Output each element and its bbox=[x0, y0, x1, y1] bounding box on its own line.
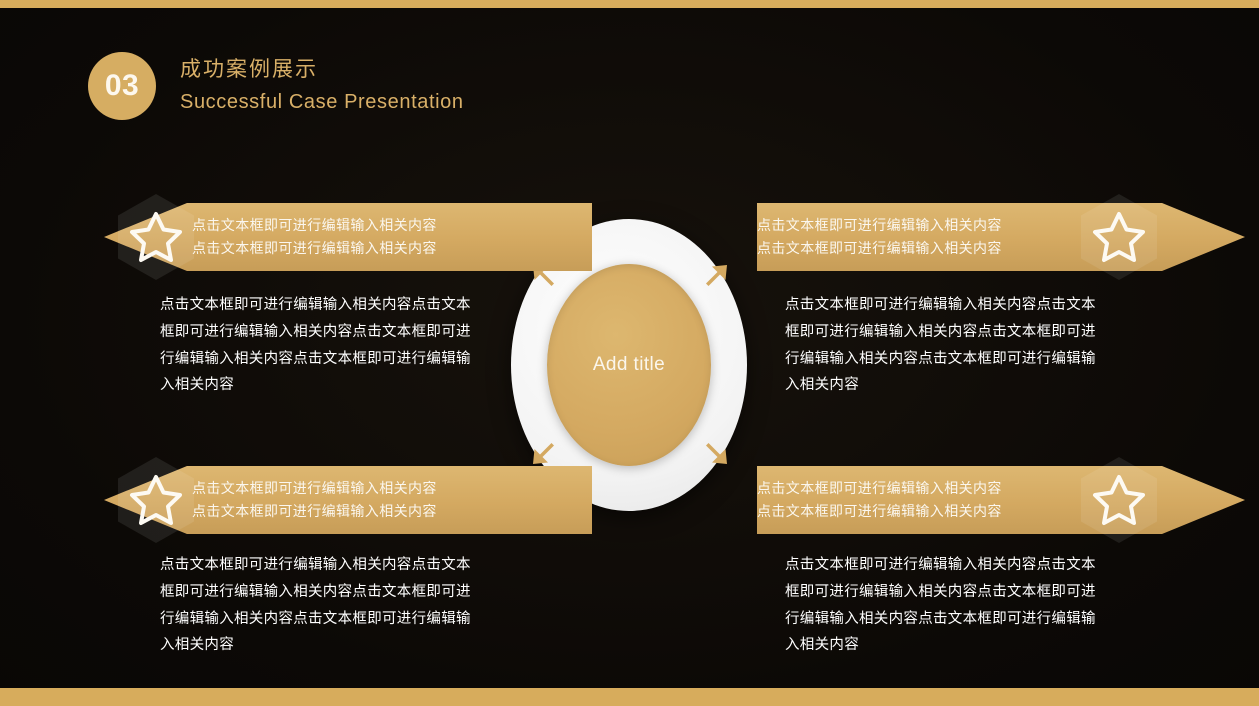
center-inner-circle[interactable]: Add title bbox=[547, 264, 711, 466]
banner-bottom-right[interactable]: 点击文本框即可进行编辑输入相关内容 点击文本框即可进行编辑输入相关内容 bbox=[757, 466, 1245, 534]
banner-line-2: 点击文本框即可进行编辑输入相关内容 bbox=[757, 237, 1002, 260]
banner-line-2: 点击文本框即可进行编辑输入相关内容 bbox=[192, 500, 437, 523]
paragraph-top-left[interactable]: 点击文本框即可进行编辑输入相关内容点击文本框即可进行编辑输入相关内容点击文本框即… bbox=[160, 292, 480, 399]
bottom-gold-strip bbox=[0, 688, 1259, 706]
slide-canvas: 03 成功案例展示 Successful Case Presentation bbox=[0, 0, 1259, 706]
banner-top-left[interactable]: 点击文本框即可进行编辑输入相关内容 点击文本框即可进行编辑输入相关内容 bbox=[104, 203, 592, 271]
header-titles: 成功案例展示 Successful Case Presentation bbox=[180, 56, 464, 115]
banner-bottom-left-text: 点击文本框即可进行编辑输入相关内容 点击文本框即可进行编辑输入相关内容 bbox=[192, 477, 437, 523]
slide-header: 03 成功案例展示 Successful Case Presentation bbox=[88, 52, 464, 120]
banner-line-1: 点击文本框即可进行编辑输入相关内容 bbox=[192, 477, 437, 500]
banner-line-1: 点击文本框即可进行编辑输入相关内容 bbox=[757, 214, 1002, 237]
section-number-badge: 03 bbox=[88, 52, 156, 120]
paragraph-bottom-left[interactable]: 点击文本框即可进行编辑输入相关内容点击文本框即可进行编辑输入相关内容点击文本框即… bbox=[160, 552, 480, 659]
paragraph-bottom-right[interactable]: 点击文本框即可进行编辑输入相关内容点击文本框即可进行编辑输入相关内容点击文本框即… bbox=[785, 552, 1105, 659]
page-title-cn: 成功案例展示 bbox=[180, 56, 464, 84]
center-title: Add title bbox=[593, 354, 665, 376]
paragraph-top-right[interactable]: 点击文本框即可进行编辑输入相关内容点击文本框即可进行编辑输入相关内容点击文本框即… bbox=[785, 292, 1105, 399]
banner-top-left-text: 点击文本框即可进行编辑输入相关内容 点击文本框即可进行编辑输入相关内容 bbox=[192, 214, 437, 260]
banner-line-2: 点击文本框即可进行编辑输入相关内容 bbox=[757, 500, 1002, 523]
banner-top-right[interactable]: 点击文本框即可进行编辑输入相关内容 点击文本框即可进行编辑输入相关内容 bbox=[757, 203, 1245, 271]
page-title-en: Successful Case Presentation bbox=[180, 88, 464, 116]
banner-line-2: 点击文本框即可进行编辑输入相关内容 bbox=[192, 237, 437, 260]
top-gold-strip bbox=[0, 0, 1259, 8]
banner-top-right-text: 点击文本框即可进行编辑输入相关内容 点击文本框即可进行编辑输入相关内容 bbox=[757, 214, 1002, 260]
banner-bottom-right-text: 点击文本框即可进行编辑输入相关内容 点击文本框即可进行编辑输入相关内容 bbox=[757, 477, 1002, 523]
banner-line-1: 点击文本框即可进行编辑输入相关内容 bbox=[192, 214, 437, 237]
banner-bottom-left[interactable]: 点击文本框即可进行编辑输入相关内容 点击文本框即可进行编辑输入相关内容 bbox=[104, 466, 592, 534]
section-number: 03 bbox=[105, 69, 139, 103]
banner-line-1: 点击文本框即可进行编辑输入相关内容 bbox=[757, 477, 1002, 500]
